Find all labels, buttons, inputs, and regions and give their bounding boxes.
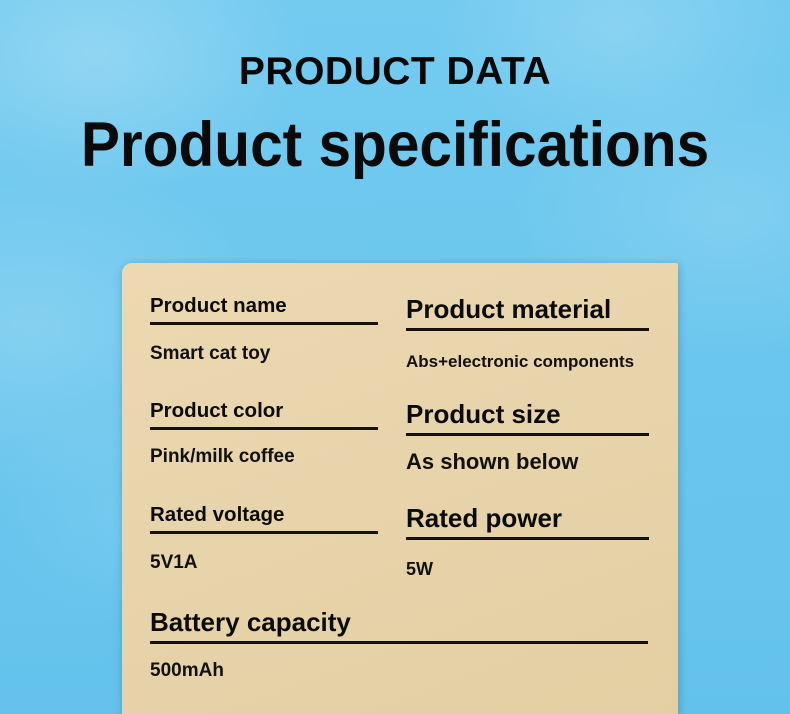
spec-value: Abs+electronic components [406,353,650,372]
label-underline [406,433,649,436]
spec-label: Rated power [406,504,650,532]
label-underline [150,322,378,325]
spec-label: Battery capacity [150,608,650,636]
spec-row: Rated voltage 5V1A Rated power 5W [150,504,648,580]
kicker-title: PRODUCT DATA [0,52,790,91]
spec-value: 5V1A [150,553,406,574]
spec-label: Product name [150,295,406,317]
spec-value: 5W [406,560,650,580]
label-underline [406,328,649,331]
spec-value: 500mAh [150,661,650,682]
spec-label: Rated voltage [150,504,406,526]
label-underline [150,531,378,534]
spec-label: Product size [406,400,650,428]
specifications-card: Product name Smart cat toy Product mater… [122,263,678,714]
spec-cell-battery-capacity: Battery capacity 500mAh [150,608,650,682]
page-title: Product specifications [28,113,763,177]
spec-cell-product-name: Product name Smart cat toy [150,295,406,372]
label-underline [150,641,648,644]
page-headings: PRODUCT DATA Product specifications [0,0,790,177]
spec-cell-product-size: Product size As shown below [406,400,650,474]
spec-cell-rated-voltage: Rated voltage 5V1A [150,504,406,580]
spec-label: Product color [150,400,406,422]
spec-value: Smart cat toy [150,344,406,365]
spec-label: Product material [406,295,650,323]
spec-cell-rated-power: Rated power 5W [406,504,650,580]
row-spacer [150,580,648,608]
spec-row: Battery capacity 500mAh [150,608,648,682]
label-underline [150,427,378,430]
spec-row: Product color Pink/milk coffee Product s… [150,400,648,474]
spec-value: As shown below [406,450,650,474]
spec-value: Pink/milk coffee [150,447,406,468]
spec-cell-product-color: Product color Pink/milk coffee [150,400,406,474]
row-spacer [150,372,648,400]
label-underline [406,537,649,540]
spec-row: Product name Smart cat toy Product mater… [150,295,648,372]
row-spacer [150,474,648,504]
spec-cell-product-material: Product material Abs+electronic componen… [406,295,650,372]
